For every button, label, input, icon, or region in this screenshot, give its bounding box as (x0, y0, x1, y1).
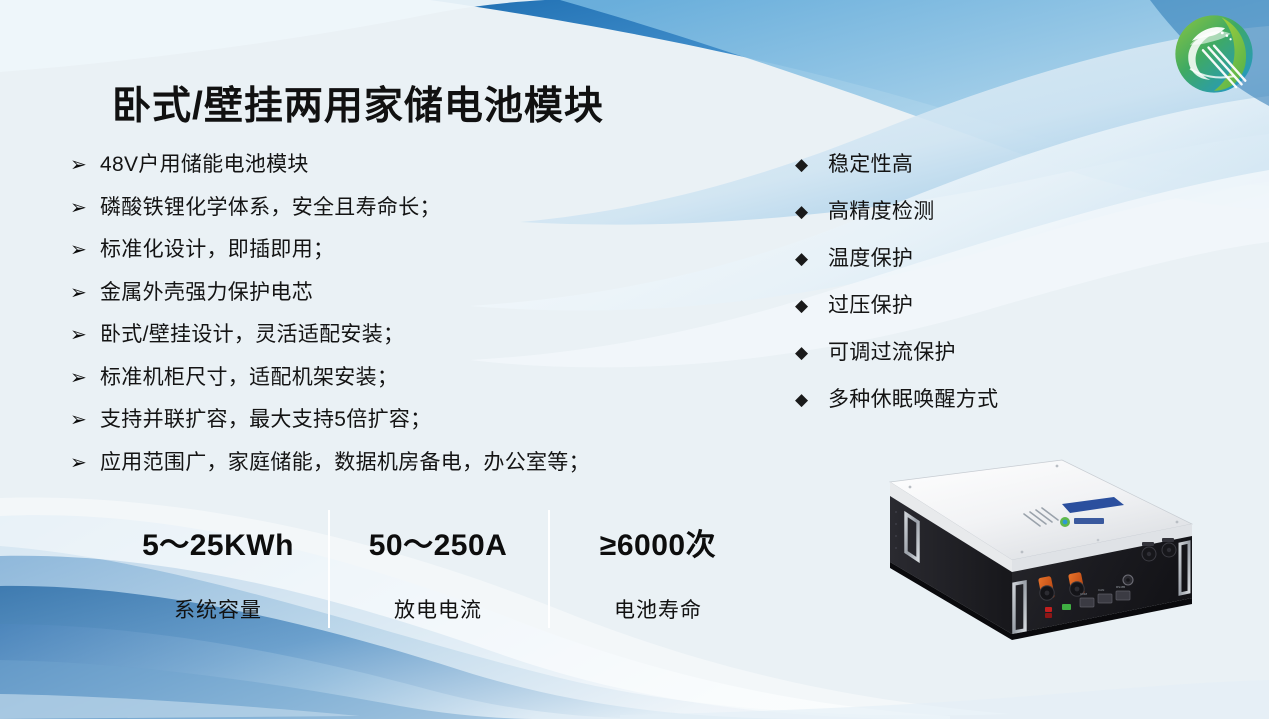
diamond-bullet-icon: ◆ (795, 387, 828, 413)
arrow-bullet-icon: ➢ (70, 237, 100, 263)
arrow-bullet-icon: ➢ (70, 322, 100, 348)
arrow-bullet-icon: ➢ (70, 450, 100, 476)
list-item-label: 高精度检测 (828, 199, 935, 225)
list-item: ◆ 稳定性高 (795, 152, 1125, 178)
arrow-bullet-icon: ➢ (70, 152, 100, 178)
list-item-label: 应用范围广，家庭储能，数据机房备电，办公室等； (100, 450, 590, 476)
list-item-label: 温度保护 (828, 246, 913, 272)
stat-capacity: 5～25KWh 系统容量 (108, 512, 328, 630)
stat-cycle-life: ≥6000次 电池寿命 (548, 512, 768, 630)
list-item-label: 稳定性高 (828, 152, 913, 178)
feature-list-left: ➢ 48V户用储能电池模块 ➢ 磷酸铁锂化学体系，安全且寿命长； ➢ 标准化设计… (70, 152, 710, 492)
list-item: ◆ 可调过流保护 (795, 340, 1125, 366)
list-item-label: 可调过流保护 (828, 340, 956, 366)
list-item-label: 48V户用储能电池模块 (100, 152, 309, 178)
list-item-label: 金属外壳强力保护电芯 (100, 280, 313, 306)
company-logo-icon (1168, 8, 1260, 100)
stat-discharge-current: 50～250A 放电电流 (328, 512, 548, 630)
spec-stats: 5～25KWh 系统容量 50～250A 放电电流 ≥6000次 电池寿命 (108, 512, 768, 630)
list-item-label: 标准机柜尺寸，适配机架安装； (100, 365, 398, 391)
presentation-slide: 卧式/壁挂两用家储电池模块 ➢ 48V户用储能电池模块 ➢ 磷酸铁锂化学体系，安… (0, 0, 1269, 719)
list-item: ➢ 标准机柜尺寸，适配机架安装； (70, 365, 710, 391)
arrow-bullet-icon: ➢ (70, 280, 100, 306)
list-item-label: 磷酸铁锂化学体系，安全且寿命长； (100, 195, 441, 221)
svg-text:COM: COM (1080, 592, 1088, 596)
diamond-bullet-icon: ◆ (795, 340, 828, 366)
list-item: ➢ 金属外壳强力保护电芯 (70, 280, 710, 306)
arrow-bullet-icon: ➢ (70, 407, 100, 433)
stat-value: 50～250A (369, 520, 508, 564)
list-item-label: 支持并联扩容，最大支持5倍扩容； (100, 407, 431, 433)
diamond-bullet-icon: ◆ (795, 199, 828, 225)
list-item: ➢ 标准化设计，即插即用； (70, 237, 710, 263)
list-item: ➢ 磷酸铁锂化学体系，安全且寿命长； (70, 195, 710, 221)
feature-list-right: ◆ 稳定性高 ◆ 高精度检测 ◆ 温度保护 ◆ 过压保护 ◆ 可调过流保护 ◆ … (795, 152, 1125, 434)
list-item: ➢ 应用范围广，家庭储能，数据机房备电，办公室等； (70, 450, 710, 476)
battery-module-illustration: COM CAN RS485 (862, 452, 1207, 652)
diamond-bullet-icon: ◆ (795, 246, 828, 272)
list-item: ➢ 支持并联扩容，最大支持5倍扩容； (70, 407, 710, 433)
list-item: ◆ 高精度检测 (795, 199, 1125, 225)
list-item: ➢ 卧式/壁挂设计，灵活适配安装； (70, 322, 710, 348)
list-item: ➢ 48V户用储能电池模块 (70, 152, 710, 178)
list-item-label: 多种休眠唤醒方式 (828, 387, 998, 413)
stat-label: 放电电流 (394, 594, 482, 624)
list-item: ◆ 温度保护 (795, 246, 1125, 272)
svg-text:RS485: RS485 (1116, 585, 1126, 589)
stat-value: ≥6000次 (600, 520, 716, 564)
arrow-bullet-icon: ➢ (70, 195, 100, 221)
stat-label: 电池寿命 (614, 594, 702, 624)
diamond-bullet-icon: ◆ (795, 293, 828, 319)
battery-module-photo: COM CAN RS485 (862, 452, 1207, 652)
company-logo (1168, 8, 1260, 100)
page-title: 卧式/壁挂两用家储电池模块 (112, 83, 604, 132)
stat-label: 系统容量 (174, 594, 262, 624)
list-item: ◆ 过压保护 (795, 293, 1125, 319)
list-item-label: 标准化设计，即插即用； (100, 237, 334, 263)
list-item: ◆ 多种休眠唤醒方式 (795, 387, 1125, 413)
stat-value: 5～25KWh (142, 520, 294, 564)
arrow-bullet-icon: ➢ (70, 365, 100, 391)
list-item-label: 过压保护 (828, 293, 913, 319)
diamond-bullet-icon: ◆ (795, 152, 828, 178)
list-item-label: 卧式/壁挂设计，灵活适配安装； (100, 322, 404, 348)
svg-text:CAN: CAN (1098, 588, 1104, 592)
